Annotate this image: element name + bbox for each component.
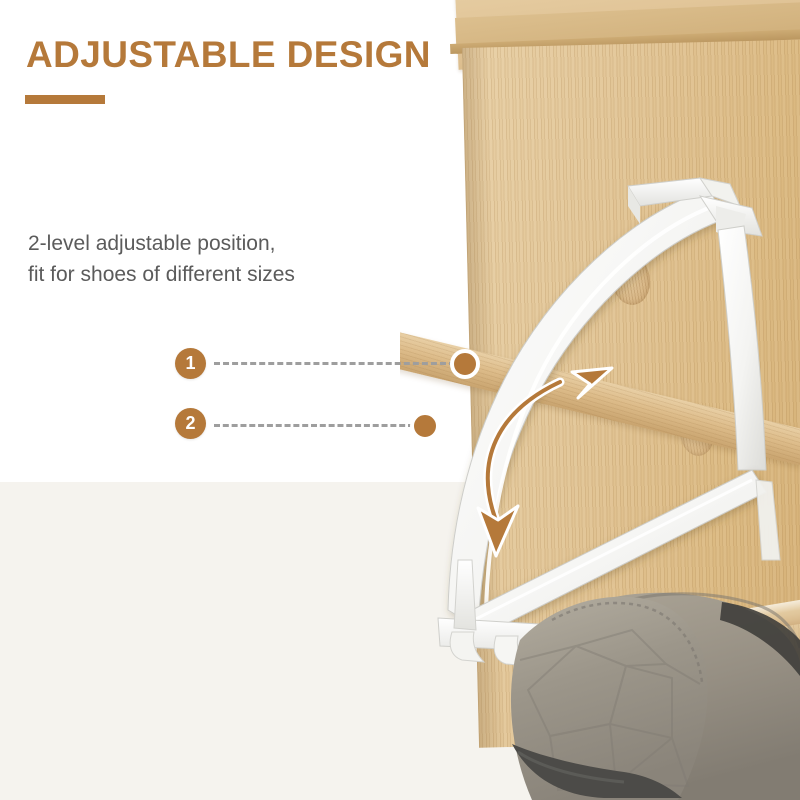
callout-badge-1[interactable]: 1 [175,348,206,379]
callout-anchor-dot-1 [450,349,480,379]
description-text: 2-level adjustable position, fit for sho… [28,228,295,290]
title-underline-rule [25,95,105,104]
callout-badge-2[interactable]: 2 [175,408,206,439]
page-title: ADJUSTABLE DESIGN [26,34,431,76]
shoe-pair [400,0,800,800]
product-photo [400,0,800,800]
callout-anchor-dot-2 [410,411,440,441]
leader-line-2 [214,424,414,427]
product-feature-image: ADJUSTABLE DESIGN 2-level adjustable pos… [0,0,800,800]
